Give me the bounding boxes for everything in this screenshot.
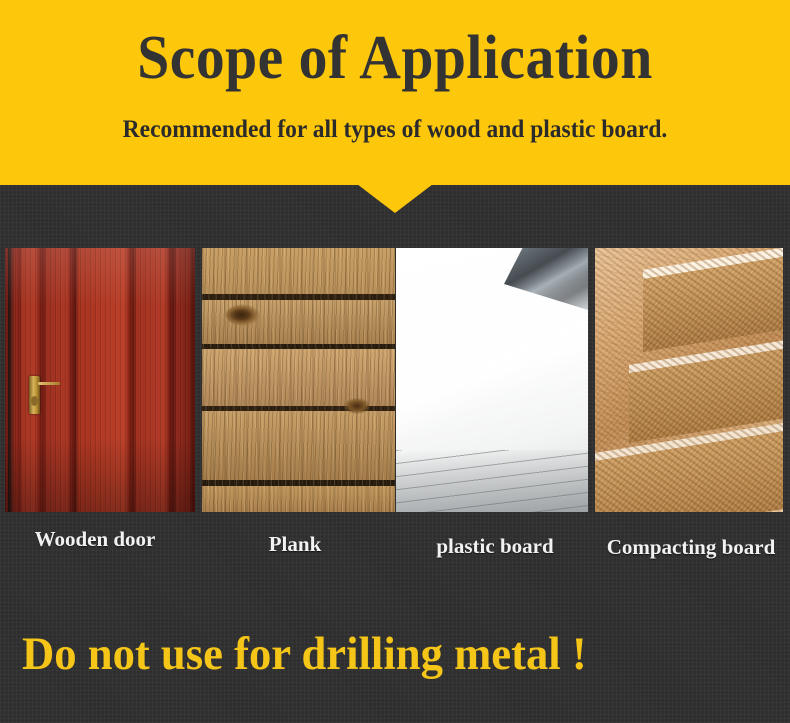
plank-knot-mark-secondary (344, 398, 370, 414)
caption-compacting-board: Compacting board (598, 535, 784, 560)
panel-wooden-door (5, 248, 195, 512)
down-arrow-notch-icon (357, 184, 433, 213)
plank-grain-overlay (202, 248, 395, 512)
plastic-board-image (396, 248, 588, 512)
door-handle-icon (29, 376, 40, 414)
caption-wooden-door: Wooden door (0, 527, 190, 552)
panel-plastic-board (396, 248, 588, 512)
material-panel-strip (0, 248, 790, 512)
application-scope-banner: Scope of Application Recommended for all… (0, 0, 790, 723)
header-subtitle: Recommended for all types of wood and pl… (24, 113, 767, 147)
compacting-board-image (595, 248, 783, 512)
plank-knot-mark (226, 304, 260, 326)
caption-plastic-board: plastic board (400, 534, 590, 559)
panel-compacting-board (595, 248, 783, 512)
page-title: Scope of Application (28, 20, 763, 96)
warning-text: Do not use for drilling metal ! (22, 626, 587, 682)
plank-image (202, 248, 395, 512)
wooden-door-image (5, 248, 195, 512)
header-band: Scope of Application Recommended for all… (0, 0, 790, 185)
plastic-stack-edges (396, 450, 588, 512)
panel-plank (202, 248, 395, 512)
caption-plank: Plank (205, 532, 385, 557)
